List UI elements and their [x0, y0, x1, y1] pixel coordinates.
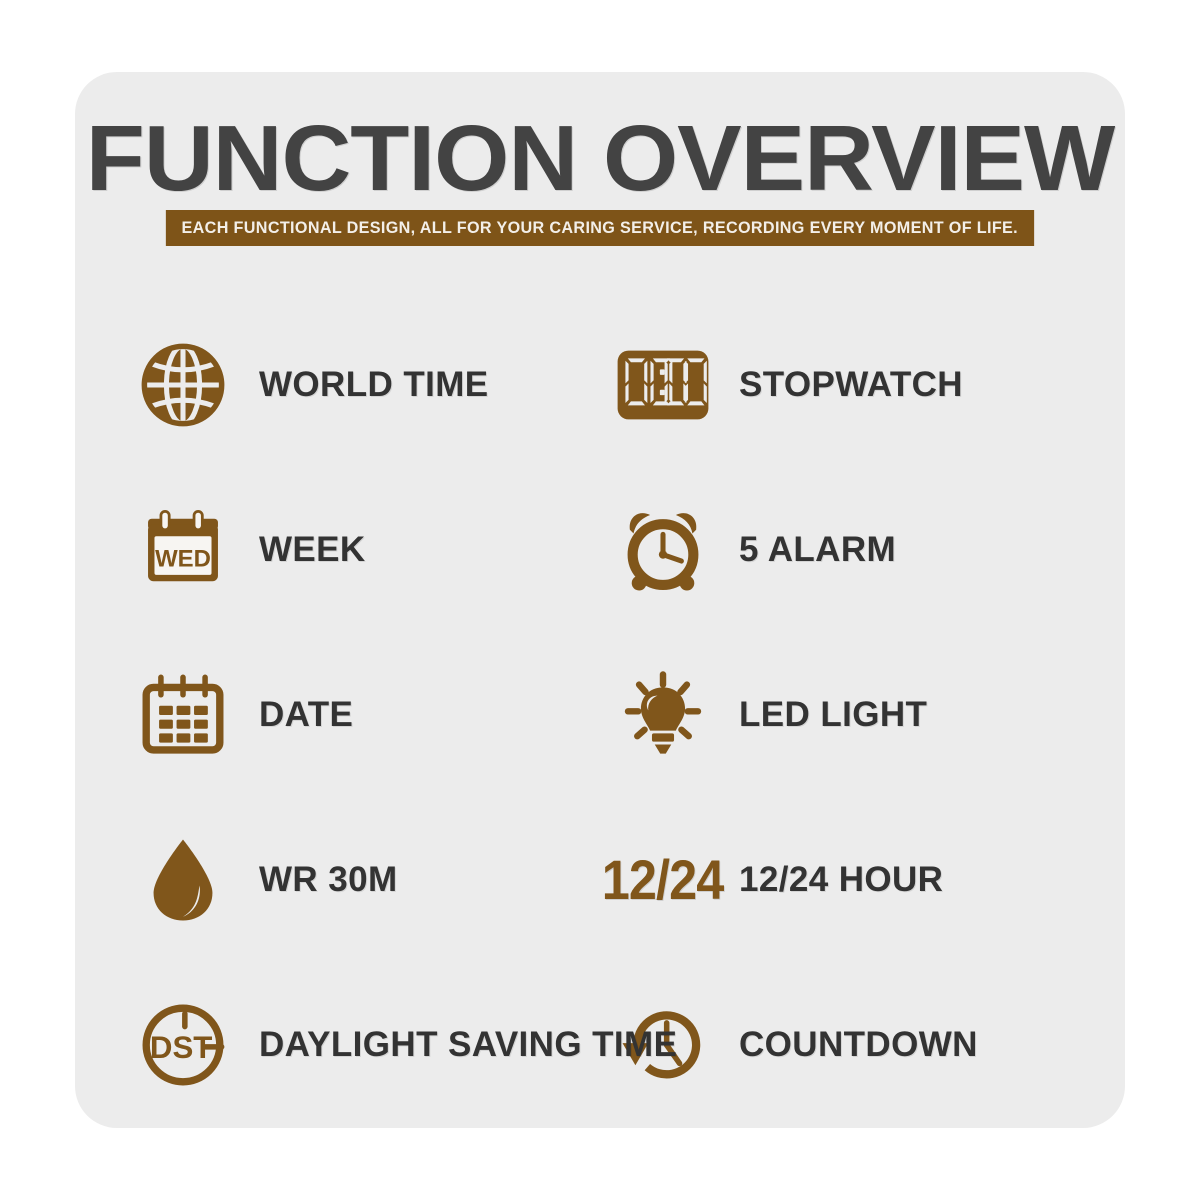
- calendar-date-icon: [135, 667, 231, 763]
- feature-alarm[interactable]: 5 ALARM: [615, 467, 1065, 632]
- tagline-banner: EACH FUNCTIONAL DESIGN, ALL FOR YOUR CAR…: [166, 210, 1034, 246]
- feature-daylight-saving-time[interactable]: DST DAYLIGHT SAVING TIME: [135, 962, 615, 1127]
- feature-label: DATE: [259, 695, 353, 735]
- feature-label: WEEK: [259, 530, 366, 570]
- feature-label: WR 30M: [259, 860, 398, 900]
- twelve-twentyfour-text: 12/24: [602, 852, 724, 908]
- light-bulb-icon: [615, 667, 711, 763]
- feature-label: STOPWATCH: [739, 365, 963, 405]
- feature-countdown[interactable]: COUNTDOWN: [615, 962, 1065, 1127]
- feature-label: DAYLIGHT SAVING TIME: [259, 1025, 677, 1065]
- tagline-banner-wrap: EACH FUNCTIONAL DESIGN, ALL FOR YOUR CAR…: [75, 210, 1125, 246]
- feature-led-light[interactable]: LED LIGHT: [615, 632, 1065, 797]
- water-drop-icon: [135, 832, 231, 928]
- calendar-week-icon: WED: [135, 502, 231, 598]
- feature-label: 5 ALARM: [739, 530, 896, 570]
- feature-grid: WORLD TIME: [135, 302, 1065, 1127]
- feature-label: 12/24 HOUR: [739, 860, 943, 900]
- feature-12-24-hour[interactable]: 12/24 12/24 HOUR: [615, 797, 1065, 962]
- feature-world-time[interactable]: WORLD TIME: [135, 302, 615, 467]
- feature-stopwatch[interactable]: STOPWATCH: [615, 302, 1065, 467]
- alarm-clock-icon: [615, 502, 711, 598]
- feature-date[interactable]: DATE: [135, 632, 615, 797]
- dst-text: DST: [150, 1029, 213, 1064]
- feature-label: LED LIGHT: [739, 695, 927, 735]
- feature-label: COUNTDOWN: [739, 1025, 978, 1065]
- page-title: FUNCTION OVERVIEW: [54, 112, 1146, 205]
- feature-label: WORLD TIME: [259, 365, 489, 405]
- dst-circle-icon: DST: [135, 997, 231, 1093]
- calendar-week-text: WED: [155, 545, 211, 572]
- digital-display-icon: [615, 337, 711, 433]
- globe-icon: [135, 337, 231, 433]
- feature-water-resistance[interactable]: WR 30M: [135, 797, 615, 962]
- function-overview-card: FUNCTION OVERVIEW EACH FUNCTIONAL DESIGN…: [75, 72, 1125, 1128]
- feature-week[interactable]: WED WEEK: [135, 467, 615, 632]
- twelve-twentyfour-icon: 12/24: [615, 832, 711, 928]
